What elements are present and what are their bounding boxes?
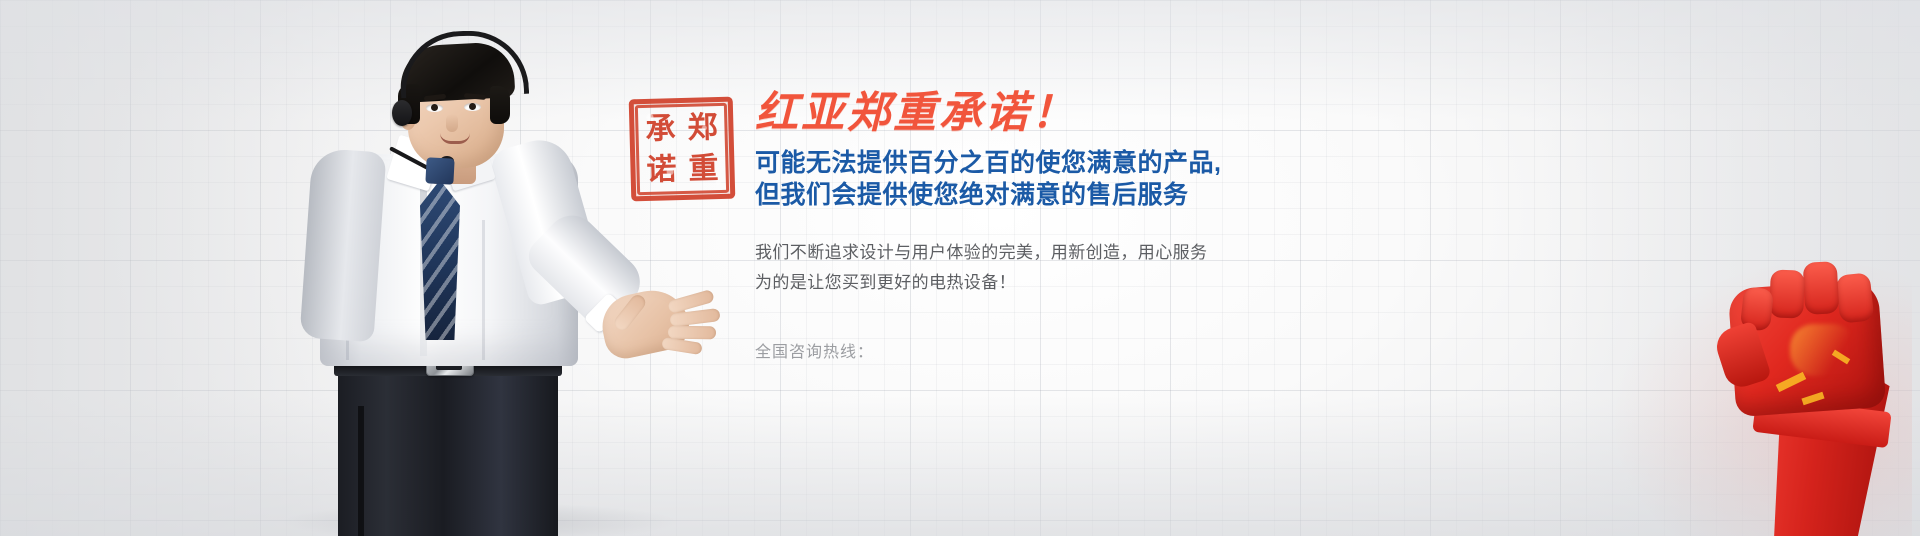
headset-band-icon: [399, 29, 529, 98]
fist-knuckle-3: [1769, 269, 1805, 318]
shirt-fold-right: [482, 220, 485, 360]
stamp-char-1: 承: [639, 108, 682, 150]
stamp-char-2: 郑: [681, 107, 724, 149]
banner-body-line-2: 为的是让您买到更好的电热设备！: [755, 268, 1455, 298]
fist-knuckle-1: [1836, 272, 1875, 323]
pupil-left: [431, 104, 438, 111]
headset-earpiece-icon: [392, 100, 412, 126]
red-raised-fist-graphic: [1582, 236, 1912, 536]
hand-finger-3: [668, 326, 716, 340]
person-left-arm: [299, 148, 386, 343]
fist-highlight: [1790, 324, 1856, 376]
necktie-knot: [425, 157, 454, 184]
red-square-stamp: 承 郑 诺 重: [629, 97, 736, 202]
striped-necktie: [420, 180, 460, 340]
hand-finger-4: [661, 337, 702, 355]
banner-body-line-1: 我们不断追求设计与用户体验的完美，用新创造，用心服务: [755, 238, 1455, 268]
banner-subheadline-line-1: 可能无法提供百分之百的使您满意的产品,: [755, 147, 1455, 180]
trouser-seam: [358, 406, 364, 536]
pupil-right: [469, 103, 476, 110]
banner-body-text: 我们不断追求设计与用户体验的完美，用新创造，用心服务 为的是让您买到更好的电热设…: [755, 238, 1455, 299]
banner-subheadline-line-2: 但我们会提供使您绝对满意的售后服务: [755, 179, 1455, 212]
stamp-char-4: 重: [682, 148, 725, 190]
nose: [446, 114, 458, 132]
fist-knuckle-2: [1803, 261, 1840, 315]
hotline-label: 全国咨询热线：: [755, 338, 1455, 362]
stamp-char-3: 诺: [640, 149, 683, 191]
person-trousers: [338, 366, 558, 536]
banner-headline: 红亚郑重承诺！: [755, 88, 1455, 139]
stamp-character-grid: 承 郑 诺 重: [639, 107, 725, 191]
banner-text-block: 红亚郑重承诺！ 可能无法提供百分之百的使您满意的产品, 但我们会提供使您绝对满意…: [755, 88, 1455, 362]
promo-banner: 承 郑 诺 重 红亚郑重承诺！ 可能无法提供百分之百的使您满意的产品, 但我们会…: [0, 0, 1920, 536]
